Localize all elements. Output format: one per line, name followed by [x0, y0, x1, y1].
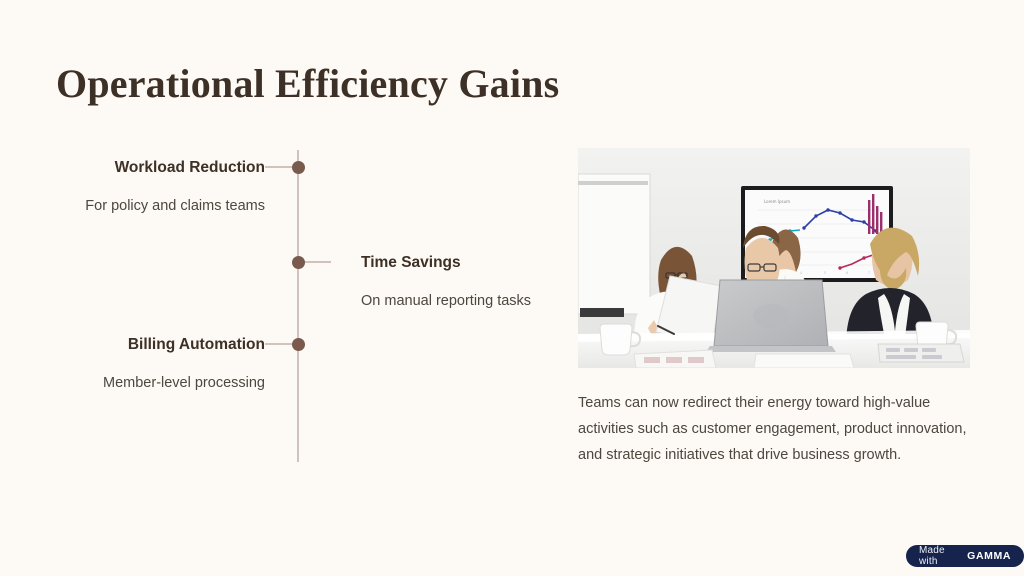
timeline: Workload Reduction For policy and claims… [0, 0, 560, 576]
team-photo: Lorem Ipsum [578, 148, 970, 368]
slide-canvas: Operational Efficiency Gains Workload Re… [0, 0, 1024, 576]
badge-brand-label: GAMMA [967, 550, 1011, 562]
supporting-paragraph: Teams can now redirect their energy towa… [578, 390, 970, 468]
svg-text:Lorem Ipsum: Lorem Ipsum [764, 199, 790, 204]
badge-prefix-label: Made with [919, 545, 962, 567]
svg-text:5: 5 [824, 271, 826, 275]
timeline-item-time-savings: Time Savings On manual reporting tasks [361, 253, 561, 314]
svg-text:7: 7 [868, 271, 870, 275]
timeline-item-billing-automation: Billing Automation Member-level processi… [55, 335, 265, 396]
timeline-item-1-body: For policy and claims teams [55, 194, 265, 219]
timeline-item-2-body: On manual reporting tasks [361, 289, 561, 314]
team-photo-image: Lorem Ipsum [578, 148, 970, 368]
timeline-item-1-heading: Workload Reduction [55, 158, 265, 178]
timeline-item-2-heading: Time Savings [361, 253, 561, 273]
timeline-axis-line [297, 150, 299, 462]
timeline-item-3-heading: Billing Automation [55, 335, 265, 355]
timeline-dot-3[interactable] [292, 338, 305, 351]
svg-text:6: 6 [846, 271, 848, 275]
timeline-item-workload-reduction: Workload Reduction For policy and claims… [55, 158, 265, 219]
timeline-dot-2[interactable] [292, 256, 305, 269]
made-with-gamma-badge[interactable]: Made with GAMMA [906, 545, 1024, 567]
timeline-dot-1[interactable] [292, 161, 305, 174]
timeline-item-3-body: Member-level processing [55, 371, 265, 396]
